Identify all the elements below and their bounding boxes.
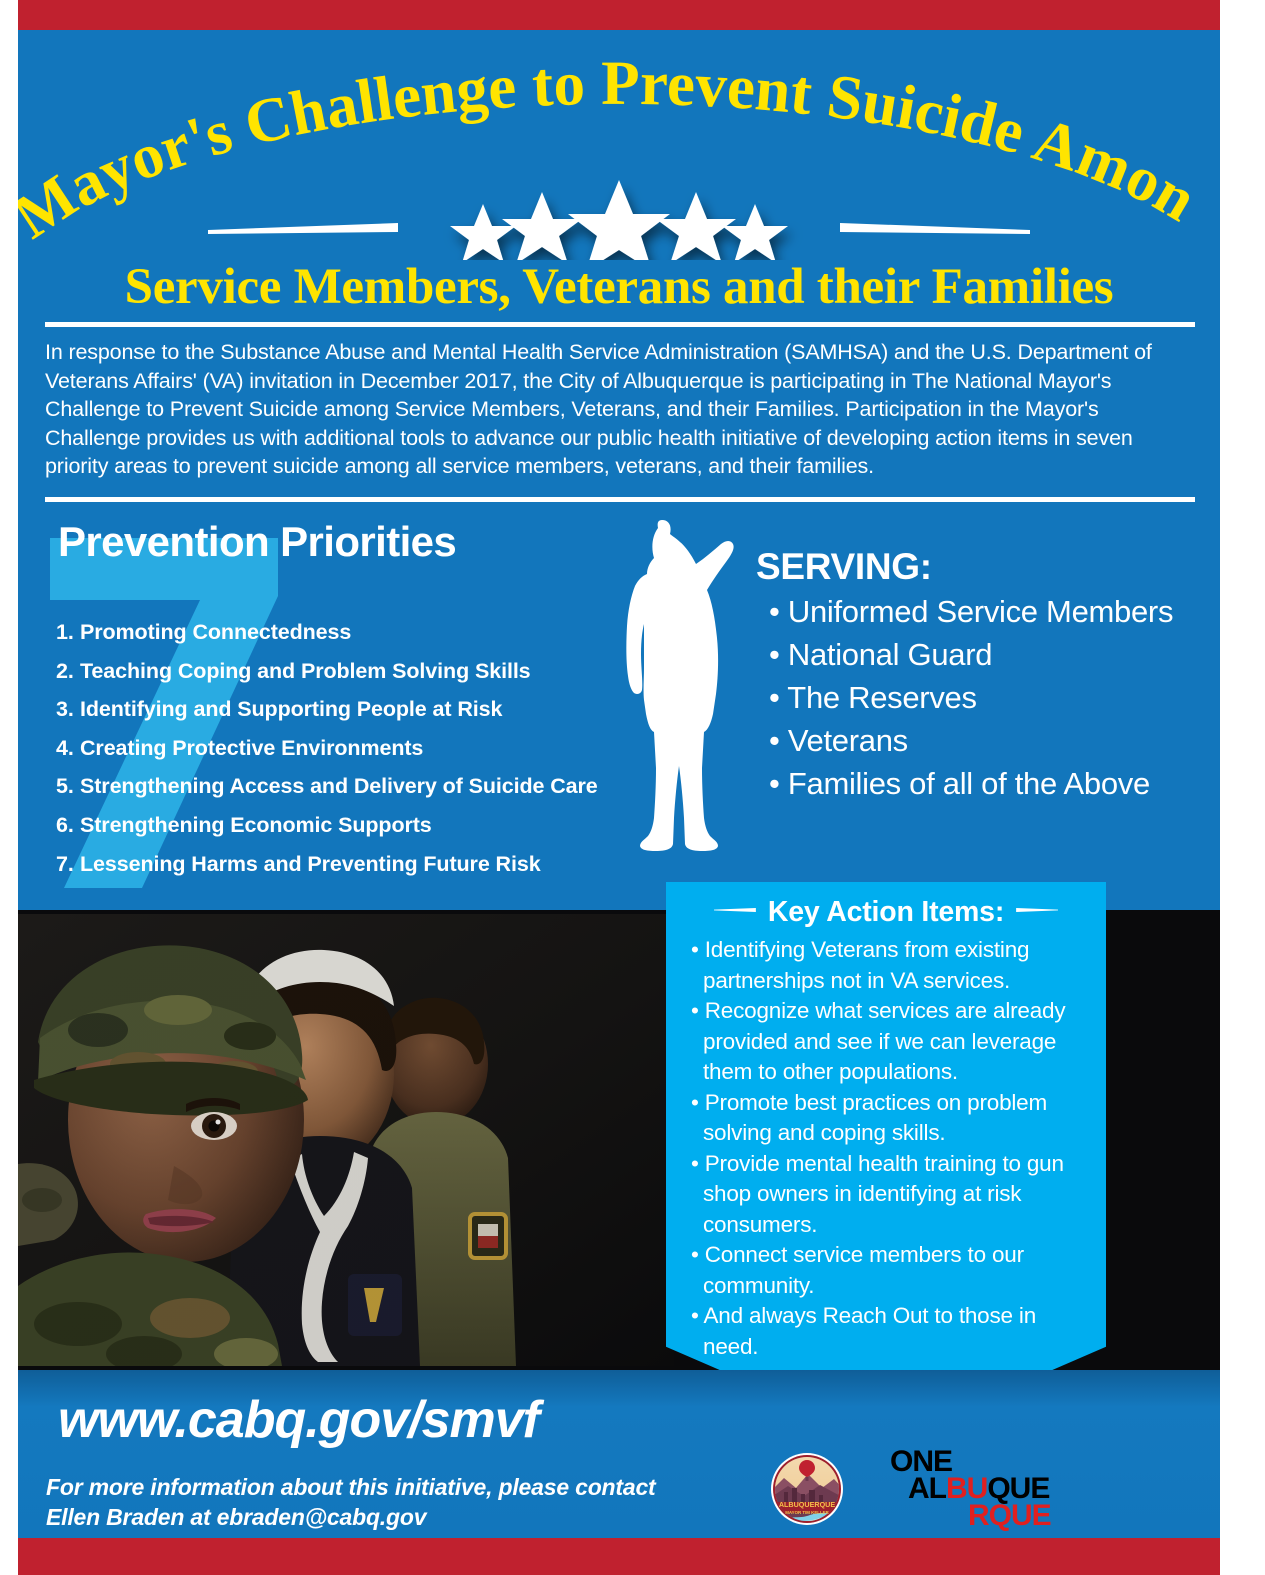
priority-label: Strengthening Economic Supports [80,813,432,837]
priority-item: 6.Strengthening Economic Supports [56,806,656,845]
wordmark-line-2: ALBUQUE [908,1475,1065,1502]
priority-item: 3.Identifying and Supporting People at R… [56,690,656,729]
priority-label: Teaching Coping and Problem Solving Skil… [80,659,531,683]
saluting-soldier-icon [600,518,765,853]
priority-item: 5.Strengthening Access and Delivery of S… [56,767,656,806]
serving-item: • National Guard [769,633,1220,676]
priority-item: 1.Promoting Connectedness [56,613,656,652]
contact-info: For more information about this initiati… [46,1472,666,1532]
priority-label: Identifying and Supporting People at Ris… [80,697,502,721]
key-action-items-title: Key Action Items: [678,896,1094,929]
star-2 [502,192,582,260]
key-action-item: • And always Reach Out to those in need. [684,1301,1094,1362]
serving-section: SERVING: • Uniformed Service Members • N… [756,546,1220,805]
priority-item: 4.Creating Protective Environments [56,729,656,768]
priorities-list: 1.Promoting Connectedness 2.Teaching Cop… [56,613,656,883]
right-rule [840,223,1030,234]
priority-label: Promoting Connectedness [80,620,351,644]
priority-item: 2.Teaching Coping and Problem Solving Sk… [56,652,656,691]
priority-item: 7.Lessening Harms and Preventing Future … [56,845,656,884]
priority-number: 7. [56,845,80,884]
seal-city-text: ALBUQUERQUE [779,1500,836,1509]
key-action-item: • Promote best practices on problem solv… [684,1088,1094,1149]
poster-body: Mayor's Challenge to Prevent Suicide Amo… [18,30,1220,1538]
priority-label: Creating Protective Environments [80,736,423,760]
serving-title: SERVING: [756,546,1220,588]
priority-number: 2. [56,652,80,691]
wordmark-line-1: ONE [890,1448,1065,1475]
star-divider [18,180,1220,260]
intro-paragraph: In response to the Substance Abuse and M… [45,338,1197,481]
priority-number: 1. [56,613,80,652]
key-action-items-title-text: Key Action Items: [768,896,1004,928]
service-members-photo [18,914,674,1366]
serving-item: • Families of all of the Above [769,762,1220,805]
priority-number: 6. [56,806,80,845]
wordmark-line-3: RQUE [968,1502,1065,1529]
star-group [450,180,788,260]
priority-number: 3. [56,690,80,729]
serving-item: • Uniformed Service Members [769,590,1220,633]
star-5 [722,204,788,260]
star-3 [568,180,670,260]
key-action-item: • Provide mental health training to gun … [684,1149,1094,1241]
right-dash-icon [1016,908,1058,912]
key-action-item: • Identifying Veterans from existing par… [684,935,1094,996]
albuquerque-city-seal-icon: ALBUQUERQUE MAYOR TIM KELLER [770,1452,844,1526]
serving-item: • Veterans [769,719,1220,762]
header: Mayor's Challenge to Prevent Suicide Amo… [18,30,1220,320]
priority-label: Lessening Harms and Preventing Future Ri… [80,852,541,876]
header-subtitle: Service Members, Veterans and their Fami… [18,258,1220,316]
star-1 [450,204,516,260]
priority-number: 5. [56,767,80,806]
intro-rule-bottom [45,497,1195,502]
key-action-items-box: Key Action Items: • Identifying Veterans… [666,882,1106,1442]
left-dash-icon [714,908,756,912]
poster-root: Mayor's Challenge to Prevent Suicide Amo… [0,0,1265,1575]
priority-number: 4. [56,729,80,768]
one-albuquerque-wordmark: ONE ALBUQUE RQUE [890,1448,1065,1530]
prevention-priorities-section: Prevention Priorities 1.Promoting Connec… [36,518,656,908]
serving-item: • The Reserves [769,676,1220,719]
left-rule [208,223,398,234]
priority-label: Strengthening Access and Delivery of Sui… [80,774,598,798]
key-action-item: • Connect service members to our communi… [684,1240,1094,1301]
website-url[interactable]: www.cabq.gov/smvf [58,1390,539,1450]
key-action-items-list: • Identifying Veterans from existing par… [684,935,1094,1362]
key-action-item: • Recognize what services are already pr… [684,996,1094,1088]
priorities-title: Prevention Priorities [58,518,456,566]
top-red-band [18,0,1220,30]
serving-list: • Uniformed Service Members • National G… [769,590,1220,805]
intro-rule-top [45,322,1195,327]
wordmark-al: AL [908,1472,946,1505]
seal-mayor-text: MAYOR TIM KELLER [785,1510,829,1515]
bottom-red-band [18,1538,1220,1575]
